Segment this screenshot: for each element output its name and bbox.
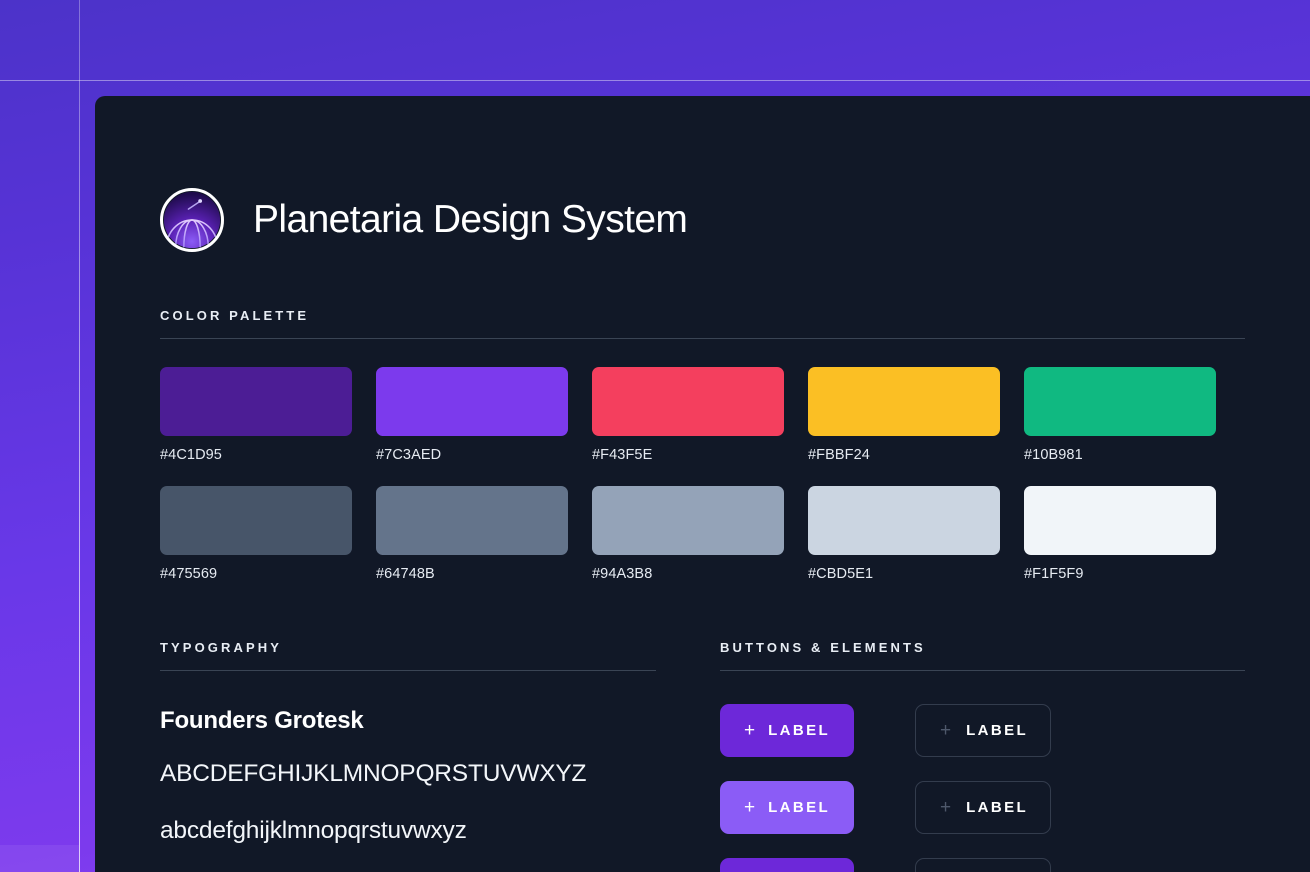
swatch-cell: #94A3B8 [592, 486, 784, 582]
palette-row-primary: #4C1D95#7C3AED#F43F5E#FBBF24#10B981 [160, 367, 1245, 463]
gutter-bottom-band [0, 845, 79, 872]
color-swatch[interactable] [160, 367, 352, 436]
page-root: Planetaria Design System COLOR PALETTE #… [0, 0, 1310, 872]
button-label: LABEL [964, 799, 1028, 816]
color-swatch[interactable] [1024, 486, 1216, 555]
page-title: Planetaria Design System [253, 198, 687, 242]
primary-label-button[interactable]: +LABEL [720, 858, 854, 872]
color-hex-label: #10B981 [1024, 447, 1216, 463]
swatch-cell: #F1F5F9 [1024, 486, 1216, 582]
section-heading-typography: TYPOGRAPHY [160, 640, 656, 655]
swatch-cell: #CBD5E1 [808, 486, 1000, 582]
plus-icon: + [940, 798, 951, 817]
layout-horizontal-rule [0, 80, 1310, 81]
color-swatch[interactable] [808, 486, 1000, 555]
lower-columns: TYPOGRAPHY Founders Grotesk ABCDEFGHIJKL… [160, 640, 1245, 872]
specimen-lowercase: abcdefghijklmnopqrstuvwxyz [160, 813, 656, 849]
primary-label-button[interactable]: +LABEL [720, 781, 854, 834]
swatch-cell: #475569 [160, 486, 352, 582]
swatch-cell: #FBBF24 [808, 367, 1000, 463]
color-hex-label: #94A3B8 [592, 566, 784, 582]
section-heading-buttons: BUTTONS & ELEMENTS [720, 640, 1245, 655]
color-swatch[interactable] [376, 486, 568, 555]
color-swatch[interactable] [808, 367, 1000, 436]
color-hex-label: #F1F5F9 [1024, 566, 1216, 582]
color-hex-label: #CBD5E1 [808, 566, 1000, 582]
buttons-section: BUTTONS & ELEMENTS +LABEL+LABEL+LABEL+LA… [720, 640, 1245, 872]
color-hex-label: #F43F5E [592, 447, 784, 463]
font-family-name: Founders Grotesk [160, 707, 656, 735]
color-swatch[interactable] [1024, 367, 1216, 436]
layout-vertical-rule [79, 0, 80, 872]
swatch-cell: #64748B [376, 486, 568, 582]
color-swatch[interactable] [592, 486, 784, 555]
swatch-cell: #F43F5E [592, 367, 784, 463]
secondary-label-button[interactable]: +LABEL [915, 858, 1051, 872]
primary-label-button[interactable]: +LABEL [720, 704, 854, 757]
plus-icon: + [744, 721, 755, 740]
color-hex-label: #64748B [376, 566, 568, 582]
brand-header: Planetaria Design System [160, 188, 1245, 252]
palette-row-neutral: #475569#64748B#94A3B8#CBD5E1#F1F5F9 [160, 486, 1245, 582]
section-heading-palette: COLOR PALETTE [160, 308, 1245, 323]
section-divider [160, 670, 656, 671]
plus-icon: + [744, 798, 755, 817]
button-label: LABEL [768, 722, 830, 739]
color-swatch[interactable] [376, 367, 568, 436]
specimen-uppercase: ABCDEFGHIJKLMNOPQRSTUVWXYZ [160, 756, 656, 792]
color-hex-label: #FBBF24 [808, 447, 1000, 463]
plus-icon: + [940, 721, 951, 740]
swatch-cell: #4C1D95 [160, 367, 352, 463]
secondary-label-button[interactable]: +LABEL [915, 781, 1051, 834]
color-swatch[interactable] [592, 367, 784, 436]
planetaria-dome-icon [160, 188, 224, 252]
typography-section: TYPOGRAPHY Founders Grotesk ABCDEFGHIJKL… [160, 640, 656, 872]
swatch-cell: #7C3AED [376, 367, 568, 463]
color-hex-label: #7C3AED [376, 447, 568, 463]
section-divider [720, 670, 1245, 671]
button-label: LABEL [964, 722, 1028, 739]
section-divider [160, 338, 1245, 339]
color-palette-section: COLOR PALETTE #4C1D95#7C3AED#F43F5E#FBBF… [160, 308, 1245, 582]
design-system-panel: Planetaria Design System COLOR PALETTE #… [95, 96, 1310, 872]
color-hex-label: #475569 [160, 566, 352, 582]
color-hex-label: #4C1D95 [160, 447, 352, 463]
secondary-label-button[interactable]: +LABEL [915, 704, 1051, 757]
swatch-cell: #10B981 [1024, 367, 1216, 463]
button-label: LABEL [768, 799, 830, 816]
button-sample-grid: +LABEL+LABEL+LABEL+LABEL+LABEL+LABEL [720, 704, 1245, 872]
color-swatch[interactable] [160, 486, 352, 555]
